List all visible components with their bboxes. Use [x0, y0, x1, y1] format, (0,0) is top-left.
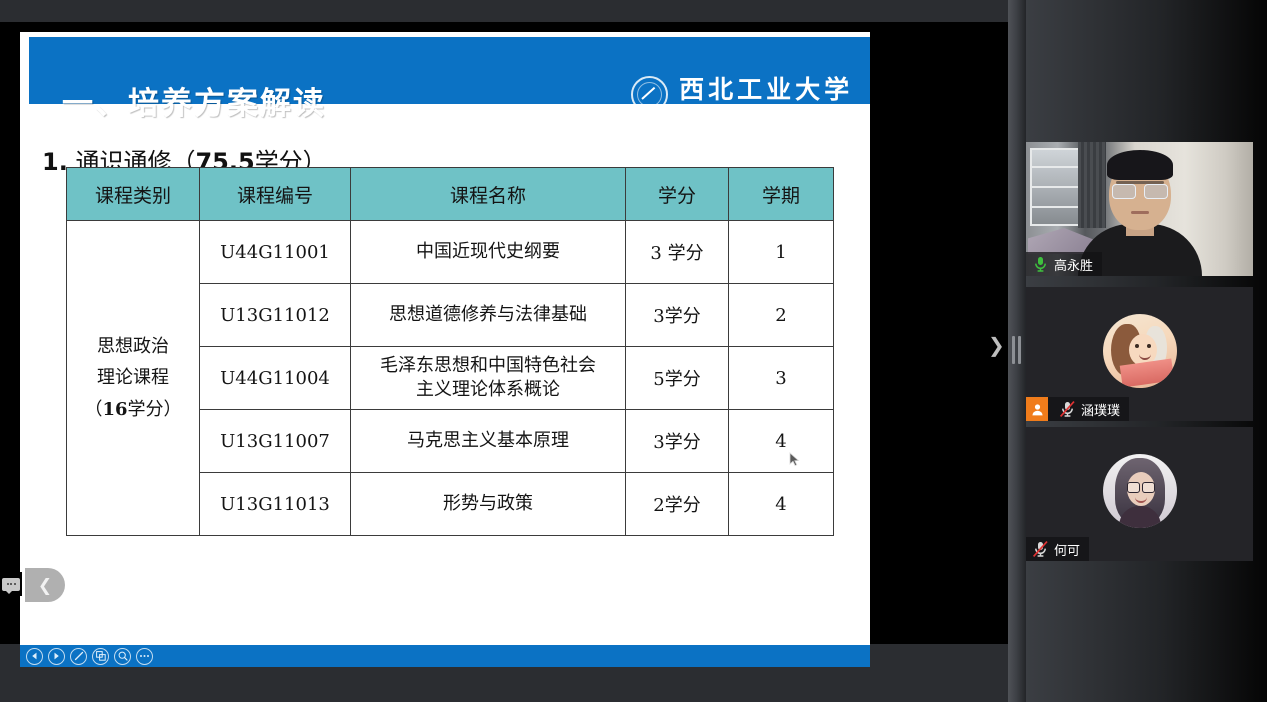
course-code: U13G11012	[200, 284, 351, 347]
meeting-window: 一、培养方案解读 西北工业大学 NORTHWESTERN POLYTECHNIC…	[0, 0, 1267, 702]
shared-screen-stage[interactable]: 一、培养方案解读 西北工业大学 NORTHWESTERN POLYTECHNIC…	[0, 0, 1012, 702]
chevron-left-icon: ❮	[38, 577, 52, 594]
course-code: U13G11013	[200, 473, 351, 536]
subtitle-index: 1.	[42, 148, 68, 176]
participant-tile[interactable]: 高永胜	[1026, 142, 1253, 276]
category-line-2: 理论课程	[69, 362, 197, 394]
microphone-on-icon	[1032, 255, 1049, 273]
host-person-icon	[1026, 397, 1048, 421]
course-code: U44G11001	[200, 221, 351, 284]
course-category-cell: 思想政治 理论课程 （16学分）	[67, 221, 200, 536]
course-term: 4	[729, 410, 834, 473]
column-header-category: 课程类别	[67, 168, 200, 221]
university-name-en: NORTHWESTERN POLYTECHNICAL UNIVERSITY	[675, 105, 857, 113]
avatar	[1103, 314, 1177, 388]
column-header-term: 学期	[729, 168, 834, 221]
category-line-3: （16学分）	[69, 394, 197, 426]
table-row: 思想政治 理论课程 （16学分） U44G11001 中国近现代史纲要 3 学分…	[67, 221, 834, 284]
chevron-right-icon: ❯	[988, 335, 1005, 357]
panel-splitter[interactable]	[1008, 0, 1026, 702]
course-name: 马克思主义基本原理	[351, 410, 626, 473]
participant-name: 涵璞璞	[1081, 400, 1120, 419]
course-credits: 3 学分	[626, 221, 729, 284]
course-credits: 3学分	[626, 410, 729, 473]
university-name-cn: 西北工业大学	[679, 77, 853, 102]
column-header-name: 课程名称	[351, 168, 626, 221]
course-table: 课程类别 课程编号 课程名称 学分 学期 思想政治 理论课程 （16学分）	[66, 167, 834, 536]
drag-handle-icon[interactable]	[1012, 336, 1021, 364]
column-header-code: 课程编号	[200, 168, 351, 221]
participant-nameplate: 涵璞璞	[1026, 397, 1129, 421]
university-logo: 西北工业大学 NORTHWESTERN POLYTECHNICAL UNIVER…	[631, 76, 857, 113]
participant-tile[interactable]: 涵璞璞	[1026, 287, 1253, 421]
table-header-row: 课程类别 课程编号 课程名称 学分 学期	[67, 168, 834, 221]
collapse-left-panel-button[interactable]: ❮	[25, 568, 65, 602]
participant-roster: 高永胜	[1026, 0, 1267, 702]
slide-title: 一、培养方案解读	[62, 78, 326, 123]
slide-thumbnails-icon[interactable]	[92, 648, 109, 665]
previous-slide-icon[interactable]	[26, 648, 43, 665]
course-code: U44G11004	[200, 347, 351, 410]
presentation-slide[interactable]: 一、培养方案解读 西北工业大学 NORTHWESTERN POLYTECHNIC…	[20, 32, 870, 667]
course-name-line-2: 主义理论体系概论	[353, 378, 623, 402]
background-window	[1030, 148, 1082, 226]
mouse-cursor	[789, 452, 800, 467]
column-header-credits: 学分	[626, 168, 729, 221]
participant-name: 高永胜	[1054, 255, 1093, 274]
course-credits: 2学分	[626, 473, 729, 536]
course-term: 4	[729, 473, 834, 536]
course-name: 中国近现代史纲要	[351, 221, 626, 284]
avatar	[1103, 454, 1177, 528]
participant-nameplate: 何可	[1026, 537, 1089, 561]
presentation-toolbar[interactable]	[20, 645, 870, 667]
category-credits: 16	[102, 399, 127, 420]
participant-name: 何可	[1054, 540, 1080, 559]
category-paren-open: （	[84, 399, 102, 420]
pen-annotate-icon[interactable]	[70, 648, 87, 665]
next-slide-icon[interactable]	[48, 648, 65, 665]
course-term: 3	[729, 347, 834, 410]
chat-bubble-icon[interactable]	[0, 572, 22, 596]
microphone-muted-icon	[1059, 400, 1076, 418]
course-term: 1	[729, 221, 834, 284]
university-logo-text: 西北工业大学 NORTHWESTERN POLYTECHNICAL UNIVER…	[675, 77, 857, 113]
course-term: 2	[729, 284, 834, 347]
course-code: U13G11007	[200, 410, 351, 473]
course-credits: 5学分	[626, 347, 729, 410]
participant-tile[interactable]: 何可	[1026, 427, 1253, 561]
expand-roster-chevron[interactable]: ❯	[988, 336, 1005, 356]
course-name-line-1: 毛泽东思想和中国特色社会	[353, 354, 623, 378]
category-paren-tail: 学分）	[128, 399, 182, 420]
more-options-icon[interactable]	[136, 648, 153, 665]
microphone-muted-icon	[1032, 540, 1049, 558]
course-name: 毛泽东思想和中国特色社会 主义理论体系概论	[351, 347, 626, 410]
course-name: 思想道德修养与法律基础	[351, 284, 626, 347]
category-line-1: 思想政治	[69, 331, 197, 363]
magnify-icon[interactable]	[114, 648, 131, 665]
course-credits: 3学分	[626, 284, 729, 347]
university-seal-icon	[631, 76, 668, 113]
course-name: 形势与政策	[351, 473, 626, 536]
participant-nameplate: 高永胜	[1026, 252, 1102, 276]
